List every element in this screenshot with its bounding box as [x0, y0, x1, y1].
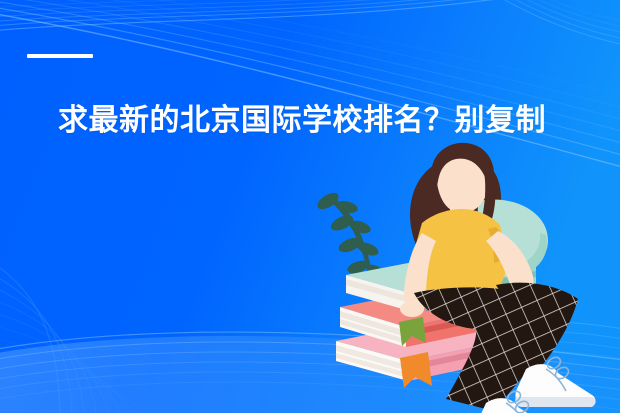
- wave-group-left-arcs: [0, 250, 144, 413]
- wave-group-topright: [470, 0, 620, 44]
- hero-illustration: [300, 145, 620, 413]
- wave-group-top: [0, 0, 620, 36]
- accent-rule: [27, 54, 93, 58]
- promo-banner: 求最新的北京国际学校排名？别复制: [0, 0, 620, 413]
- bookmark-orange-icon: [400, 352, 432, 388]
- woman-sitting-on-books-svg: [300, 145, 620, 413]
- page-title: 求最新的北京国际学校排名？别复制: [58, 100, 588, 142]
